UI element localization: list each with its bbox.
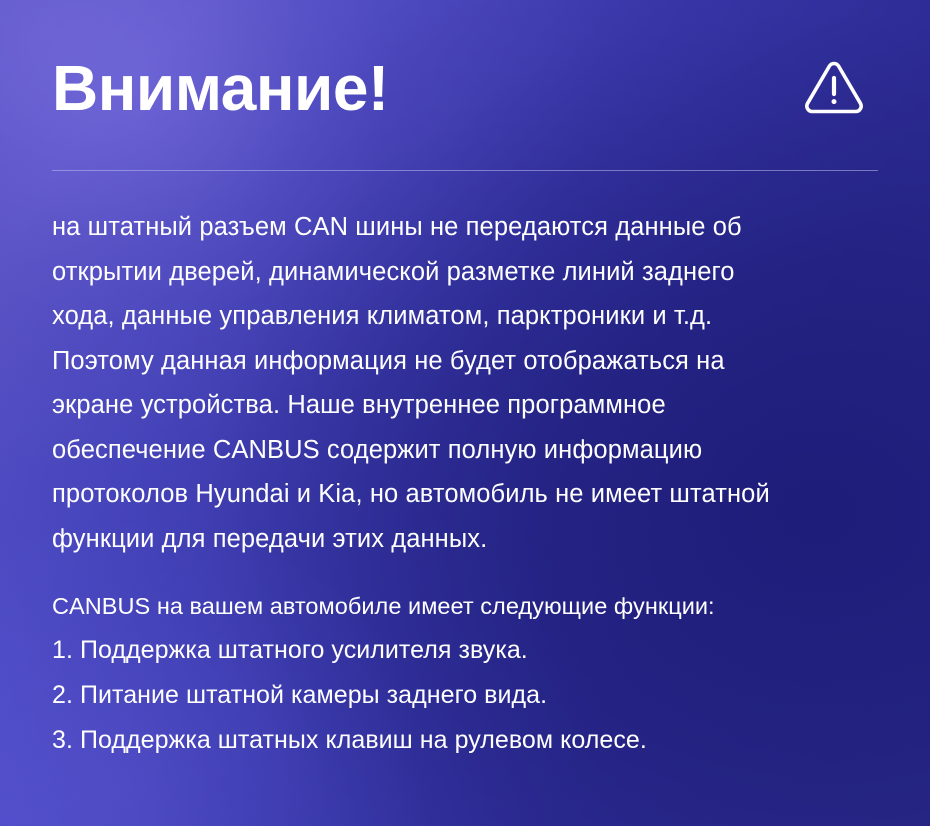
header-divider	[52, 170, 878, 171]
paragraph-line: открытии дверей, динамической разметке л…	[52, 250, 878, 295]
paragraph-line: обеспечение CANBUS содержит полную инфор…	[52, 428, 878, 473]
banner-content: Внимание! на штатный разъем CAN шины не …	[0, 0, 930, 763]
paragraph-line: на штатный разъем CAN шины не передаются…	[52, 205, 878, 250]
page-title: Внимание!	[52, 56, 389, 120]
list-item: 1. Поддержка штатного усилителя звука.	[52, 628, 878, 673]
paragraph-line: функции для передачи этих данных.	[52, 517, 878, 562]
list-item: 2. Питание штатной камеры заднего вида.	[52, 673, 878, 718]
paragraph-line: экране устройства. Наше внутреннее прогр…	[52, 383, 878, 428]
features-list: 1. Поддержка штатного усилителя звука. 2…	[52, 628, 878, 763]
paragraph-line: протоколов Hyundai и Kia, но автомобиль …	[52, 472, 878, 517]
list-item: 3. Поддержка штатных клавиш на рулевом к…	[52, 718, 878, 763]
features-subheading: CANBUS на вашем автомобиле имеет следующ…	[52, 584, 878, 628]
warning-paragraph: на штатный разъем CAN шины не передаются…	[52, 205, 878, 561]
banner-header: Внимание!	[52, 0, 878, 170]
warning-triangle-icon	[802, 56, 866, 120]
paragraph-line: Поэтому данная информация не будет отобр…	[52, 339, 878, 384]
warning-banner: Внимание! на штатный разъем CAN шины не …	[0, 0, 930, 826]
paragraph-line: хода, данные управления климатом, парктр…	[52, 294, 878, 339]
